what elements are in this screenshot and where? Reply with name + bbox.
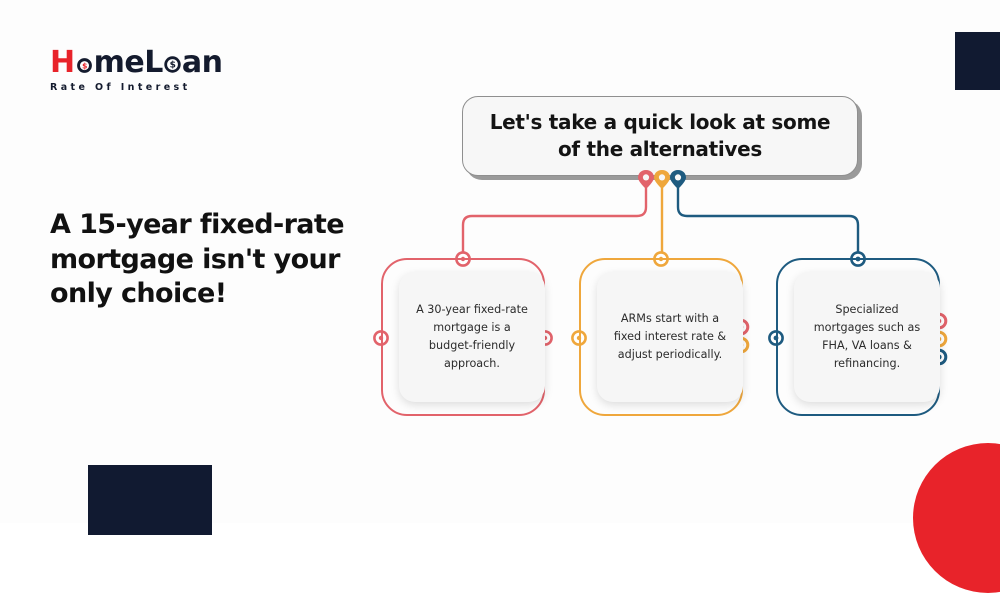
- infographic-canvas: H $ meL $ an Rate Of Interest A 15-year …: [0, 0, 1000, 523]
- wire-blue: [678, 176, 858, 258]
- brand-name-tail: an: [182, 45, 223, 80]
- card-arms-text: ARMs start with a fixed interest rate & …: [597, 310, 743, 364]
- top-banner: Let's take a quick look at some of the a…: [462, 96, 858, 176]
- dollar-coin-icon: $: [163, 55, 182, 74]
- decor-navy-square-top-right: [955, 32, 1000, 90]
- svg-text:$: $: [169, 61, 175, 71]
- wire-red: [463, 176, 646, 258]
- house-coin-icon: $: [75, 55, 94, 74]
- card-specialized[interactable]: Specialized mortgages such as FHA, VA lo…: [794, 272, 940, 402]
- brand-tagline: Rate Of Interest: [50, 82, 280, 93]
- brand-name-first-letter: H: [50, 45, 75, 80]
- brand-name-rest: meL: [94, 45, 163, 80]
- card-30-year[interactable]: A 30-year fixed-rate mortgage is a budge…: [399, 272, 545, 402]
- page-headline: A 15-year fixed-rate mortgage isn't your…: [50, 208, 380, 312]
- card-specialized-text: Specialized mortgages such as FHA, VA lo…: [794, 301, 940, 374]
- decor-red-circle-bottom-right: [913, 443, 1000, 593]
- banner-text: Let's take a quick look at some of the a…: [463, 109, 857, 163]
- svg-text:$: $: [82, 62, 87, 71]
- card-30-year-text: A 30-year fixed-rate mortgage is a budge…: [399, 301, 545, 374]
- decor-navy-rectangle-bottom-left: [88, 465, 212, 535]
- brand-logo: H $ meL $ an Rate Of Interest: [50, 48, 280, 93]
- brand-wordmark: H $ meL $ an: [50, 48, 280, 78]
- card-arms[interactable]: ARMs start with a fixed interest rate & …: [597, 272, 743, 402]
